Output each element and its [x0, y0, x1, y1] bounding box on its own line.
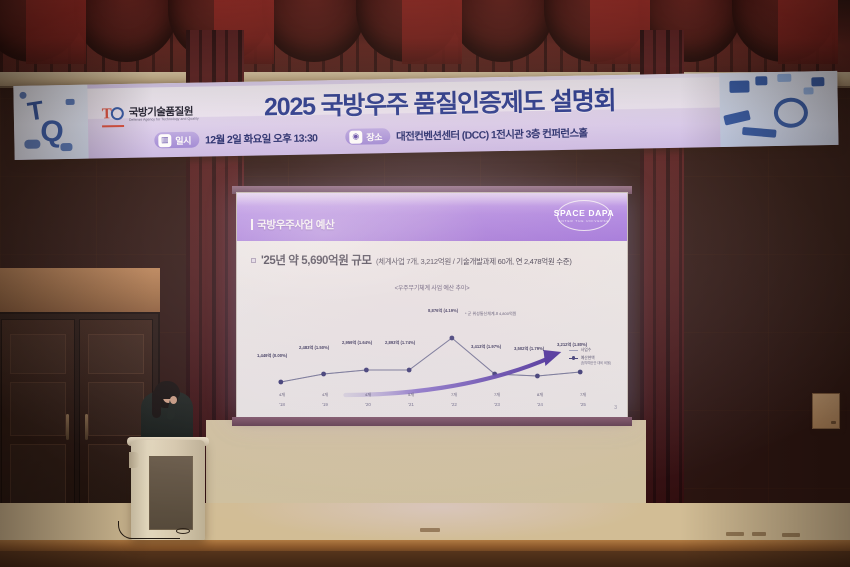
logo-sub-text: ENTER THE UNIVERSE [558, 219, 609, 223]
logo-main-text: SPACE DAPA [554, 208, 614, 218]
conference-hall-scene: 국방우주사업 예산 SPACE DAPA ENTER THE UNIVERSE … [0, 0, 850, 567]
scene-lighting-overlay [0, 0, 850, 567]
